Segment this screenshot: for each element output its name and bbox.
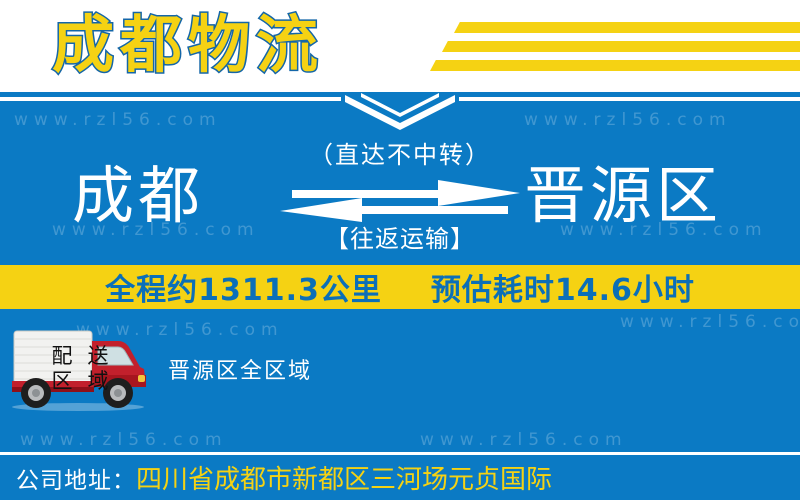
delivery-row: 配 送 区 域 晋源区全区域 bbox=[0, 325, 800, 420]
header-stripe-1 bbox=[454, 22, 800, 33]
direct-transport-note: （直达不中转） bbox=[270, 140, 530, 170]
route-middle: （直达不中转） 【往返运输】 bbox=[270, 140, 530, 270]
poster-header: 成都物流 bbox=[0, 0, 800, 92]
route-row: 成都 （直达不中转） 【往返运输】 晋源区 bbox=[0, 150, 800, 260]
watermark: www.rzl56.com bbox=[420, 430, 628, 450]
header-stripe-3 bbox=[430, 60, 800, 71]
watermark: www.rzl56.com bbox=[20, 430, 228, 450]
bidirectional-arrow-icon bbox=[270, 180, 530, 222]
header-stripes-decoration bbox=[430, 0, 800, 92]
address-value: 四川省成都市新都区三河场元贞国际 bbox=[136, 459, 552, 496]
delivery-area-text: 晋源区全区域 bbox=[168, 353, 312, 385]
distance-text: 全程约1311.3公里 bbox=[105, 273, 382, 308]
watermark: www.rzl56.com bbox=[524, 110, 732, 130]
delivery-truck-icon: 配 送 区 域 bbox=[6, 325, 156, 413]
header-stripe-2 bbox=[442, 41, 800, 52]
destination-city: 晋源区 bbox=[524, 150, 722, 242]
logistics-poster: 成都物流 www.rzl56.com www.rzl56.com www.rzl… bbox=[0, 0, 800, 500]
brand-title: 成都物流 bbox=[52, 2, 324, 88]
footer-address-bar: 公司地址： 四川省成都市新都区三河场元贞国际 bbox=[0, 455, 800, 500]
watermark: www.rzl56.com bbox=[14, 110, 222, 130]
origin-city: 成都 bbox=[72, 150, 204, 242]
roundtrip-note: 【往返运输】 bbox=[270, 224, 530, 254]
double-chevron-down-icon bbox=[341, 93, 459, 131]
distance-band: 全程约1311.3公里 预估耗时14.6小时 bbox=[0, 265, 800, 309]
duration-text: 预估耗时14.6小时 bbox=[431, 273, 695, 308]
address-label: 公司地址： bbox=[16, 461, 136, 495]
distance-band-text: 全程约1311.3公里 预估耗时14.6小时 bbox=[105, 265, 695, 309]
